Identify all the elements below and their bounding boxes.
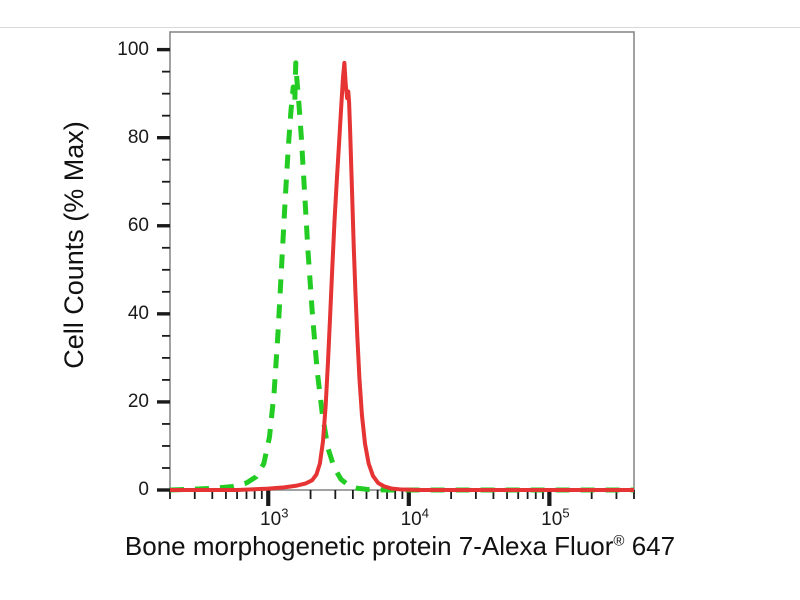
series-line-1 bbox=[170, 63, 634, 490]
y-tick-label: 40 bbox=[101, 304, 149, 323]
x-tick-mantissa: 10 bbox=[401, 509, 422, 530]
x-tick-label: 103 bbox=[244, 510, 304, 529]
series-line-0 bbox=[170, 63, 634, 490]
x-tick-exponent: 4 bbox=[422, 506, 429, 521]
y-tick-label: 0 bbox=[101, 480, 149, 499]
x-tick-mantissa: 10 bbox=[260, 509, 281, 530]
x-tick-exponent: 3 bbox=[281, 506, 288, 521]
x-axis-title-text: Bone morphogenetic protein 7-Alexa Fluor bbox=[125, 531, 614, 561]
registered-mark: ® bbox=[613, 532, 624, 549]
x-tick-mantissa: 10 bbox=[541, 509, 562, 530]
x-tick-label: 104 bbox=[385, 510, 445, 529]
y-tick-label: 60 bbox=[101, 216, 149, 235]
y-tick-label: 20 bbox=[101, 392, 149, 411]
plot-frame bbox=[170, 32, 634, 490]
x-axis-title: Bone morphogenetic protein 7-Alexa Fluor… bbox=[0, 531, 800, 562]
flow-cytometry-figure: Cell Counts (% Max) Bone morphogenetic p… bbox=[0, 0, 800, 600]
x-tick-exponent: 5 bbox=[562, 506, 569, 521]
y-tick-label: 80 bbox=[101, 128, 149, 147]
y-tick-label: 100 bbox=[101, 40, 149, 59]
x-tick-label: 105 bbox=[525, 510, 585, 529]
y-axis-title: Cell Counts (% Max) bbox=[56, 10, 92, 480]
x-axis-title-tail: 647 bbox=[632, 531, 675, 561]
